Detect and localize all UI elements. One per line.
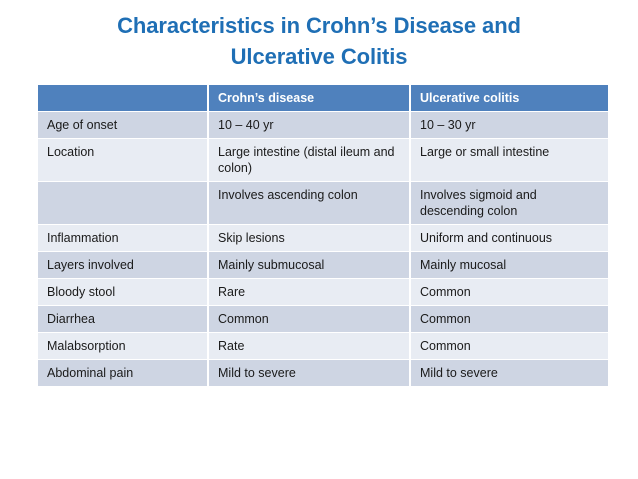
row-label-cell: Malabsorption <box>38 333 209 360</box>
table-row: LocationLarge intestine (distal ileum an… <box>38 139 608 182</box>
uc-value-cell: Common <box>411 306 608 333</box>
row-label-cell: Layers involved <box>38 252 209 279</box>
crohns-value-cell: Common <box>209 306 411 333</box>
table-row: Age of onset10 – 40 yr10 – 30 yr <box>38 112 608 139</box>
uc-value-cell: Uniform and continuous <box>411 225 608 252</box>
row-label-cell <box>38 182 209 225</box>
table-header-row: Crohn’s disease Ulcerative colitis <box>38 85 608 112</box>
crohns-value-cell: Skip lesions <box>209 225 411 252</box>
uc-value-cell: 10 – 30 yr <box>411 112 608 139</box>
row-label-cell: Inflammation <box>38 225 209 252</box>
crohns-value-cell: Involves ascending colon <box>209 182 411 225</box>
crohns-value-cell: Rare <box>209 279 411 306</box>
table-body: Age of onset10 – 40 yr10 – 30 yrLocation… <box>38 112 608 387</box>
table-row: MalabsorptionRateCommon <box>38 333 608 360</box>
crohns-value-cell: 10 – 40 yr <box>209 112 411 139</box>
uc-value-cell: Common <box>411 279 608 306</box>
table-row: InflammationSkip lesionsUniform and cont… <box>38 225 608 252</box>
page-title: Characteristics in Crohn’s Disease and U… <box>0 10 638 72</box>
table-header: Crohn’s disease Ulcerative colitis <box>38 85 608 112</box>
uc-value-cell: Mainly mucosal <box>411 252 608 279</box>
uc-value-cell: Large or small intestine <box>411 139 608 182</box>
uc-value-cell: Involves sigmoid and descending colon <box>411 182 608 225</box>
row-label-cell: Bloody stool <box>38 279 209 306</box>
table-row: Abdominal painMild to severeMild to seve… <box>38 360 608 387</box>
row-label-cell: Abdominal pain <box>38 360 209 387</box>
page-title-line-2: Ulcerative Colitis <box>0 41 638 72</box>
crohns-value-cell: Large intestine (distal ileum and colon) <box>209 139 411 182</box>
table-row: Layers involvedMainly submucosalMainly m… <box>38 252 608 279</box>
crohns-value-cell: Mild to severe <box>209 360 411 387</box>
table-row: DiarrheaCommonCommon <box>38 306 608 333</box>
uc-value-cell: Common <box>411 333 608 360</box>
row-label-cell: Age of onset <box>38 112 209 139</box>
table-row: Bloody stoolRareCommon <box>38 279 608 306</box>
column-header-feature <box>38 85 209 112</box>
crohns-value-cell: Rate <box>209 333 411 360</box>
page-title-line-1: Characteristics in Crohn’s Disease and <box>0 10 638 41</box>
crohns-value-cell: Mainly submucosal <box>209 252 411 279</box>
uc-value-cell: Mild to severe <box>411 360 608 387</box>
row-label-cell: Diarrhea <box>38 306 209 333</box>
table-row: Involves ascending colonInvolves sigmoid… <box>38 182 608 225</box>
characteristics-table: Crohn’s disease Ulcerative colitis Age o… <box>38 85 608 387</box>
row-label-cell: Location <box>38 139 209 182</box>
column-header-ulcerative-colitis: Ulcerative colitis <box>411 85 608 112</box>
slide-canvas: Characteristics in Crohn’s Disease and U… <box>0 0 638 479</box>
column-header-crohns-disease: Crohn’s disease <box>209 85 411 112</box>
